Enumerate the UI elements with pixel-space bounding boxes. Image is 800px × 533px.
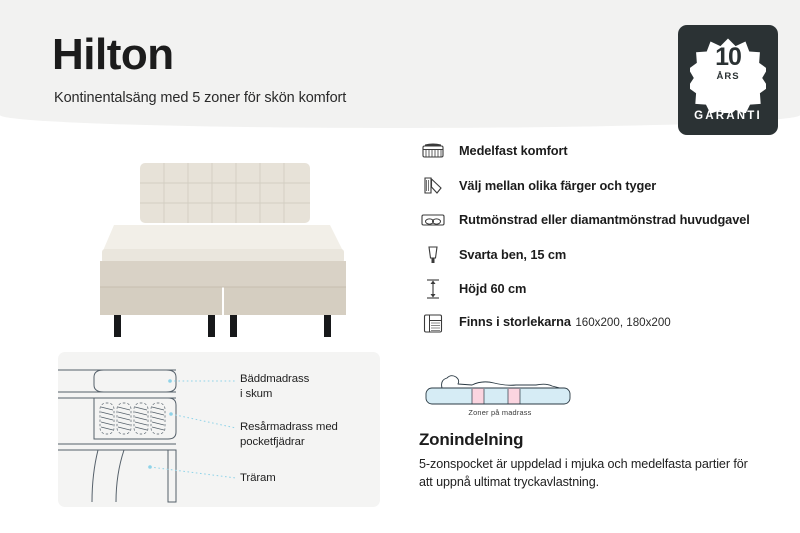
badge-number: 10	[678, 45, 778, 70]
feature-label: Svarta ben, 15 cm	[459, 244, 566, 263]
bed-product-image	[62, 145, 382, 340]
cutaway-panel: Bäddmadrass i skum Resårmadrass med pock…	[58, 352, 380, 507]
cutaway-label-topmattress: Bäddmadrass i skum	[240, 372, 309, 401]
feature-row: Finns i storlekarna 160x200, 180x200	[420, 313, 780, 335]
cutaway-label-woodframe: Träram	[240, 471, 276, 486]
infographic-canvas: Hilton Kontinentalsäng med 5 zoner för s…	[0, 0, 800, 533]
feature-sublabel: 160x200, 180x200	[575, 316, 670, 329]
feature-row: Medelfast komfort	[420, 140, 780, 162]
zone-figure-caption: Zoner på madrass	[420, 408, 580, 417]
feature-label: Finns i storlekarna	[459, 311, 571, 329]
zone-mattress-diagram	[420, 366, 580, 408]
bed-size-icon	[420, 313, 446, 335]
feature-row: Höjd 60 cm	[420, 278, 780, 300]
badge-period: ÅRS	[678, 71, 778, 82]
feature-label: Välj mellan olika färger och tyger	[459, 175, 656, 194]
height-arrow-icon	[420, 278, 446, 300]
bed-leg-icon	[420, 244, 446, 266]
mattress-spring-icon	[420, 140, 446, 162]
page-title: Hilton	[52, 33, 174, 77]
cutaway-label-springmattress: Resårmadrass med pocketfjädrar	[240, 420, 338, 449]
feature-row: Svarta ben, 15 cm	[420, 244, 780, 266]
feature-list: Medelfast komfort Välj mellan olika färg…	[420, 140, 780, 347]
badge-word: GARANTI	[678, 110, 778, 122]
zone-section-body: 5-zonspocket är uppdelad i mjuka och med…	[419, 456, 764, 492]
feature-row: Rutmönstrad eller diamantmönstrad huvudg…	[420, 209, 780, 231]
zone-section-title: Zonindelning	[419, 430, 523, 450]
headboard-icon	[420, 209, 446, 231]
feature-label: Rutmönstrad eller diamantmönstrad huvudg…	[459, 209, 750, 228]
fabric-swatches-icon	[420, 175, 446, 197]
feature-label: Medelfast komfort	[459, 140, 568, 159]
guarantee-badge: 10 ÅRS GARANTI	[678, 25, 778, 135]
feature-row: Välj mellan olika färger och tyger	[420, 175, 780, 197]
page-subtitle: Kontinentalsäng med 5 zoner för skön kom…	[54, 90, 346, 106]
feature-label: Höjd 60 cm	[459, 278, 526, 297]
